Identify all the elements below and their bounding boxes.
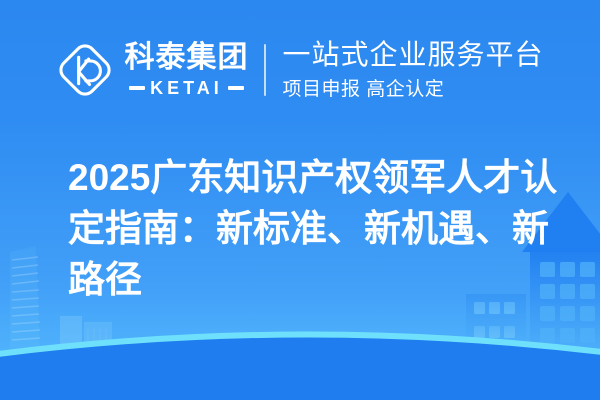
company-name-cn: 科泰集团: [124, 43, 248, 73]
company-name-en: KETAI: [150, 79, 223, 97]
company-name-en-row: KETAI: [124, 79, 248, 97]
tagline-main: 一站式企业服务平台: [282, 41, 543, 69]
header-divider: [264, 44, 266, 96]
promo-banner: 科泰集团 KETAI 一站式企业服务平台 项目申报 高企认定 2025广东知识产…: [0, 0, 600, 400]
banner-header: 科泰集团 KETAI 一站式企业服务平台 项目申报 高企认定: [0, 0, 600, 140]
brand-logo: 科泰集团 KETAI: [56, 41, 248, 99]
tagline-block: 一站式企业服务平台 项目申报 高企认定: [282, 41, 543, 99]
building-tower-left: [10, 246, 40, 360]
title-container: 2025广东知识产权领军人才认定指南：新标准、新机遇、新路径: [68, 152, 580, 305]
page-title: 2025广东知识产权领军人才认定指南：新标准、新机遇、新路径: [68, 152, 580, 305]
rule-left-icon: [129, 86, 145, 90]
rule-right-icon: [228, 86, 244, 90]
tagline-sub: 项目申报 高企认定: [282, 80, 444, 99]
building-block-left: [60, 316, 112, 360]
brand-wordmark: 科泰集团 KETAI: [124, 43, 248, 97]
ketai-kp-monogram-icon: [56, 41, 114, 99]
bottom-arc: [0, 331, 600, 400]
